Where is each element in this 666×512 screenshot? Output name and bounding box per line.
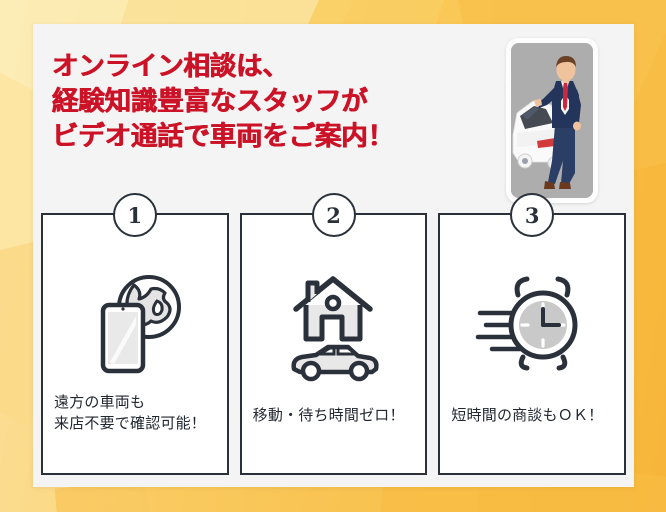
- banner-stage: オンライン相談は、 経験知識豊富なスタッフが ビデオ通話で車両をご案内！: [0, 0, 666, 512]
- content-panel: オンライン相談は、 経験知識豊富なスタッフが ビデオ通話で車両をご案内！: [33, 24, 634, 487]
- car-icon: [293, 347, 376, 379]
- feature-card-row: 1 遠方の車両も 来店不要で確認可能！: [41, 213, 626, 475]
- smartphone-globe-icon: [79, 269, 191, 377]
- house-car-icon: [278, 261, 390, 385]
- card-2-icon-wrap: [242, 253, 426, 393]
- feature-card-1[interactable]: 1 遠方の車両も 来店不要で確認可能！: [41, 213, 229, 475]
- phone-volume-down-button: [504, 115, 506, 135]
- staff-with-car-illustration: [511, 43, 593, 198]
- step-badge-3: 3: [510, 193, 554, 237]
- card-1-text: 遠方の車両も 来店不要で確認可能！: [54, 392, 219, 436]
- headline: オンライン相談は、 経験知識豊富なスタッフが ビデオ通話で車両をご案内！: [52, 50, 394, 155]
- feature-card-3[interactable]: 3: [438, 213, 626, 475]
- feature-card-2[interactable]: 2: [240, 213, 428, 475]
- card-3-icon-wrap: [440, 253, 624, 393]
- step-badge-2: 2: [312, 193, 356, 237]
- speeding-alarm-clock-icon: [474, 273, 590, 373]
- card-2-text: 移動・待ち時間ゼロ！: [253, 405, 418, 427]
- phone-screen: [511, 43, 593, 198]
- card-3-text: 短時間の商談もＯＫ！: [451, 405, 616, 427]
- smartphone-mockup: [506, 38, 598, 203]
- card-1-icon-wrap: [43, 253, 227, 393]
- step-badge-1: 1: [113, 193, 157, 237]
- phone-volume-up-button: [504, 90, 506, 110]
- phone-side-button: [504, 72, 506, 84]
- house-icon: [296, 279, 370, 339]
